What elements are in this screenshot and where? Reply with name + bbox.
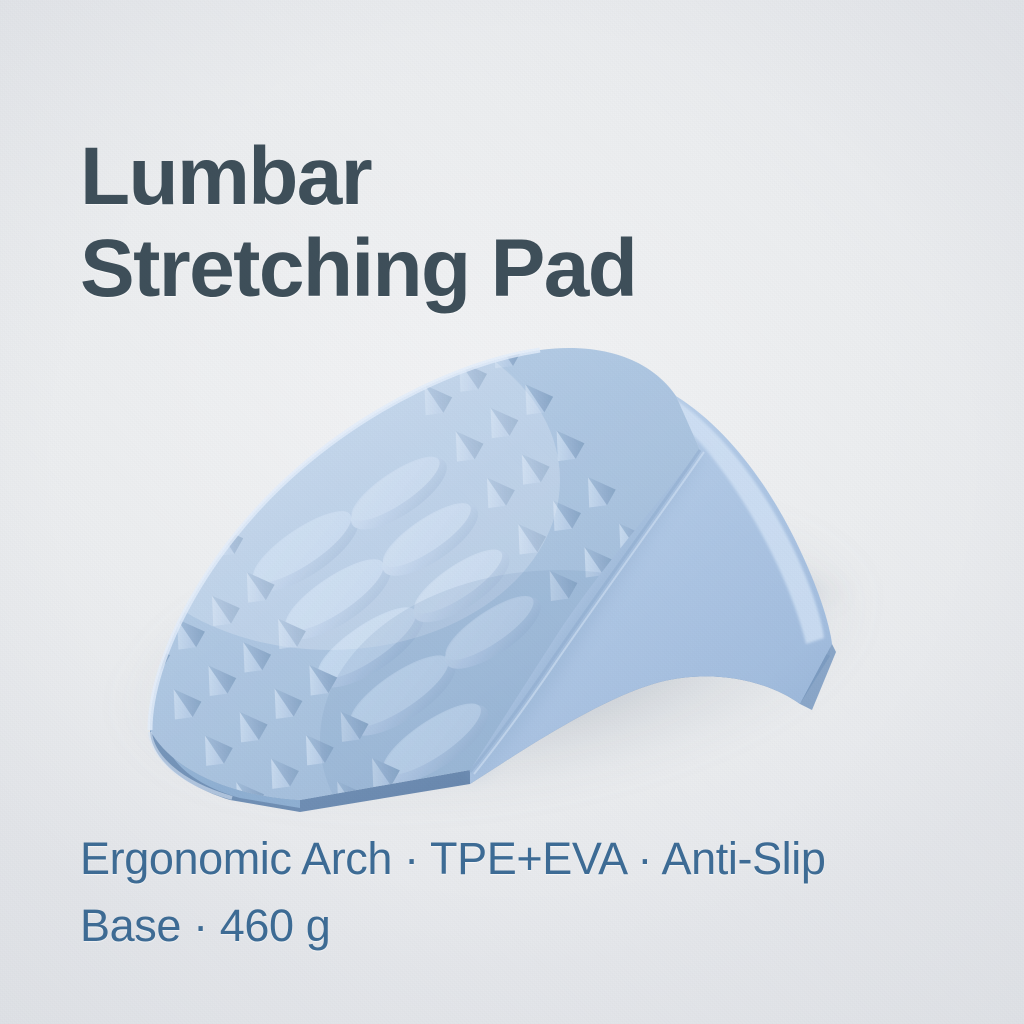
caption-line-2: Base · 460 g bbox=[80, 893, 960, 960]
caption-line-1: Ergonomic Arch · TPE+EVA · Anti-Slip bbox=[80, 826, 960, 893]
product-image bbox=[0, 300, 1024, 820]
title-line-2: Stretching Pad bbox=[80, 223, 940, 315]
title-line-1: Lumbar bbox=[80, 131, 940, 223]
product-card: Lumbar Stretching Pad Ergonomic Arch · T… bbox=[0, 0, 1024, 1024]
lumbar-pad-illustration bbox=[0, 300, 1024, 820]
page-title: Lumbar Stretching Pad bbox=[80, 131, 940, 315]
feature-caption: Ergonomic Arch · TPE+EVA · Anti-Slip Bas… bbox=[80, 826, 960, 959]
